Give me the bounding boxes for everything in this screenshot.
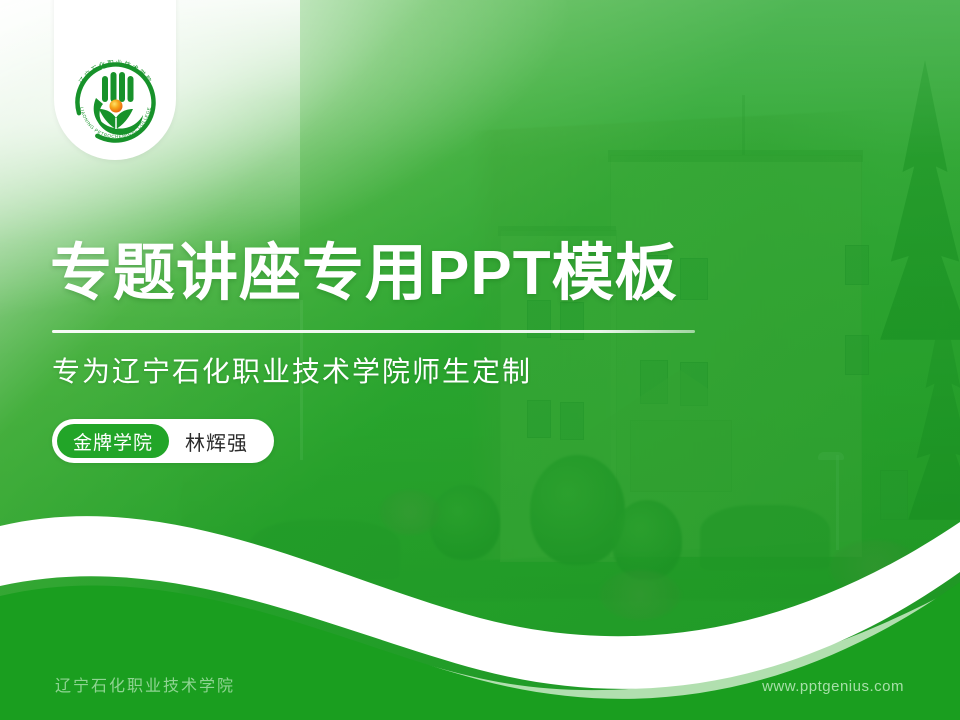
slide-subtitle: 专为辽宁石化职业技术学院师生定制 — [52, 350, 532, 390]
presentation-slide: 辽宁石化职业技术学院 LIAONING PETROCHEMICAL COLLEG… — [0, 0, 960, 720]
college-logo-icon: 辽宁石化职业技术学院 LIAONING PETROCHEMICAL COLLEG… — [63, 50, 168, 155]
footer-school-name: 辽宁石化职业技术学院 — [55, 672, 235, 696]
footer-website[interactable]: www.pptgenius.com — [762, 678, 904, 695]
presenter-badge[interactable]: 金牌学院 林辉强 — [52, 419, 274, 463]
slide-title: 专题讲座专用PPT模板 — [50, 243, 678, 305]
title-divider — [52, 330, 695, 333]
badge-tag-label: 金牌学院 — [57, 424, 169, 458]
presenter-name-label: 林辉强 — [169, 427, 268, 456]
